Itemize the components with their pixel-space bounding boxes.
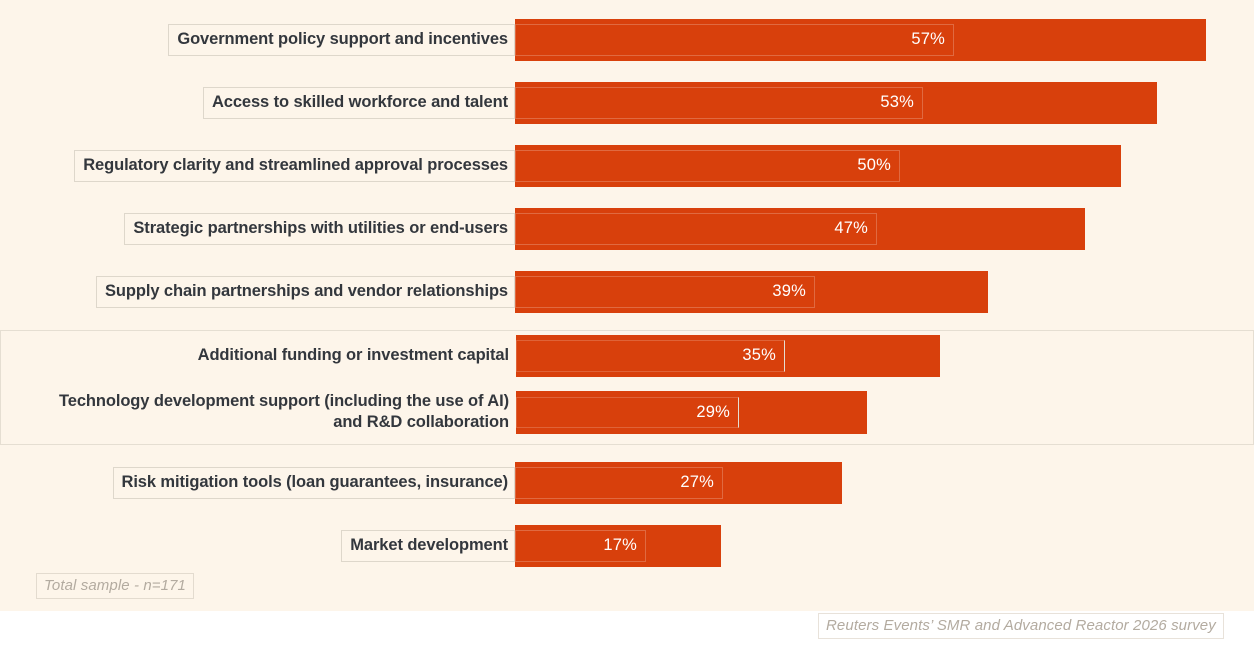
sample-size-note: Total sample - n=171 <box>36 573 194 599</box>
category-label-cell: Additional funding or investment capital <box>1 331 516 381</box>
bar-cell: 53% <box>515 78 1254 128</box>
bar-cell: 47% <box>515 204 1254 254</box>
bar-rows: Government policy support and incentives… <box>0 15 1254 584</box>
bar-cell: 27% <box>515 458 1254 508</box>
bar-row-group: Additional funding or investment capital… <box>0 330 1254 445</box>
category-label-cell: Market development <box>0 521 515 571</box>
bar-cell: 50% <box>515 141 1254 191</box>
bar-cell: 57% <box>515 15 1254 65</box>
bar-cell: 39% <box>515 267 1254 317</box>
category-label: Government policy support and incentives <box>168 24 515 56</box>
bar-cell: 29% <box>516 381 1253 444</box>
category-label: Market development <box>341 530 515 562</box>
category-label-cell: Access to skilled workforce and talent <box>0 78 515 128</box>
bar-value-label: 27% <box>515 467 723 499</box>
bar-row[interactable]: Additional funding or investment capital… <box>1 331 1253 381</box>
category-label: Supply chain partnerships and vendor rel… <box>96 276 515 308</box>
category-label: Risk mitigation tools (loan guarantees, … <box>113 467 516 499</box>
bar-row[interactable]: Market development 17% <box>0 521 1254 571</box>
category-label-cell: Technology development support (includin… <box>1 381 516 444</box>
bar-row[interactable]: Technology development support (includin… <box>1 381 1253 444</box>
bar-cell: 35% <box>516 331 1253 381</box>
bar-row[interactable]: Access to skilled workforce and talent 5… <box>0 78 1254 128</box>
category-label-cell: Government policy support and incentives <box>0 15 515 65</box>
bar-cell: 17% <box>515 521 1254 571</box>
bar-value-label: 47% <box>515 213 877 245</box>
category-label: Regulatory clarity and streamlined appro… <box>74 150 515 182</box>
bar-value-label: 57% <box>515 24 954 56</box>
bar-row[interactable]: Government policy support and incentives… <box>0 15 1254 65</box>
category-label: Access to skilled workforce and talent <box>203 87 515 119</box>
bar-row[interactable]: Risk mitigation tools (loan guarantees, … <box>0 458 1254 508</box>
bar-value-label: 29% <box>516 397 739 429</box>
source-note: Reuters Events’ SMR and Advanced Reactor… <box>818 613 1224 639</box>
bar-value-label: 50% <box>515 150 900 182</box>
category-label: Strategic partnerships with utilities or… <box>124 213 515 245</box>
category-label-cell: Regulatory clarity and streamlined appro… <box>0 141 515 191</box>
category-label: Technology development support (includin… <box>46 387 516 438</box>
bar-row[interactable]: Supply chain partnerships and vendor rel… <box>0 267 1254 317</box>
chart-container: Government policy support and incentives… <box>0 0 1254 648</box>
bar-value-label: 39% <box>515 276 815 308</box>
category-label: Additional funding or investment capital <box>190 341 516 371</box>
bar-value-label: 53% <box>515 87 923 119</box>
bar-row[interactable]: Strategic partnerships with utilities or… <box>0 204 1254 254</box>
bar-value-label: 35% <box>516 340 785 372</box>
category-label-cell: Strategic partnerships with utilities or… <box>0 204 515 254</box>
bar-row[interactable]: Regulatory clarity and streamlined appro… <box>0 141 1254 191</box>
category-label-cell: Risk mitigation tools (loan guarantees, … <box>0 458 515 508</box>
category-label-cell: Supply chain partnerships and vendor rel… <box>0 267 515 317</box>
bar-value-label: 17% <box>515 530 646 562</box>
